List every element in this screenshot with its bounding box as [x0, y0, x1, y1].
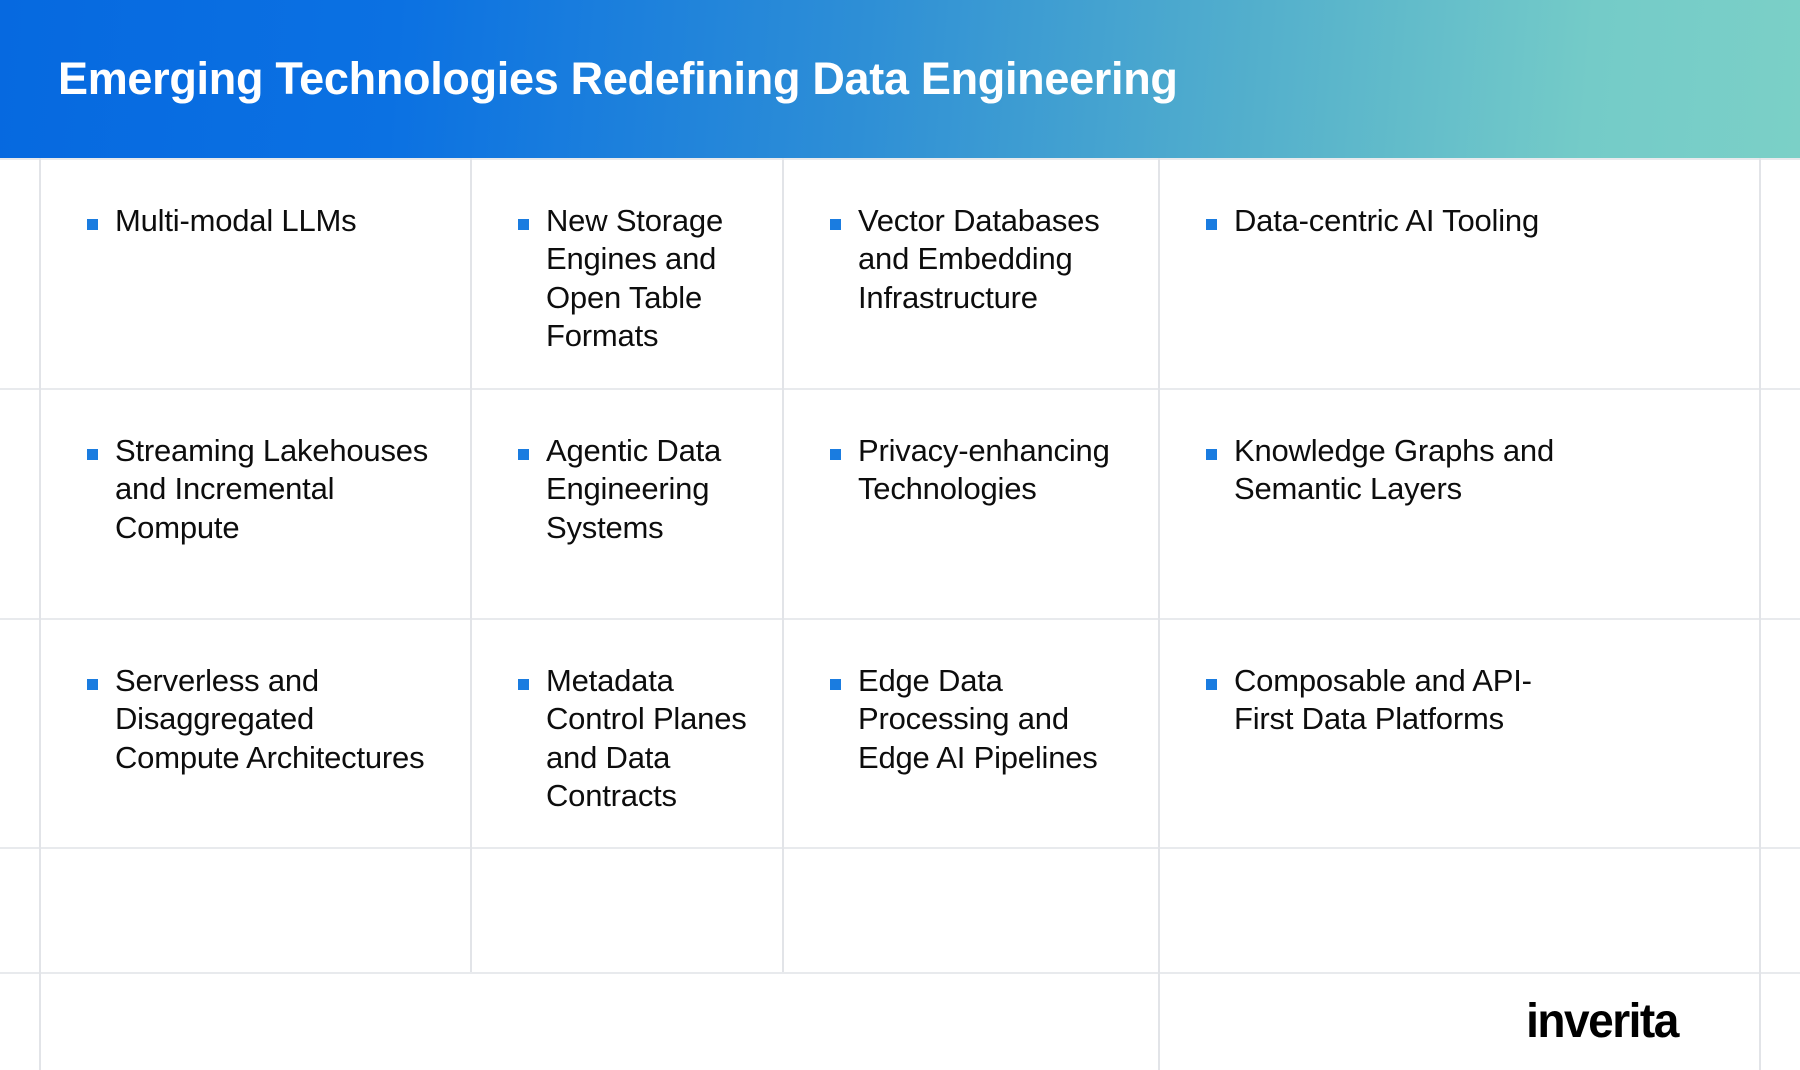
- grid-row: Serverless and Disaggregated Compute Arc…: [0, 618, 1800, 847]
- grid-gutter: [0, 618, 39, 847]
- list-item-label: Streaming Lakehouses and Incremental Com…: [115, 432, 445, 547]
- list-item: Privacy-enhancing Technologies: [830, 432, 1140, 509]
- bullet-square-icon: [830, 449, 841, 460]
- grid-row: Multi-modal LLMs New Storage Engines and…: [0, 158, 1800, 388]
- inverita-logo: inverita: [1526, 994, 1678, 1049]
- grid-cell-r1c3: Vector Databases and Embedding Infrastru…: [782, 158, 1158, 388]
- footer-cell-1: [39, 972, 470, 1070]
- bullet-square-icon: [518, 219, 529, 230]
- list-item: Composable and API-First Data Platforms: [1206, 662, 1741, 739]
- bullet-square-icon: [518, 679, 529, 690]
- grid-cell-r1c4: Data-centric AI Tooling: [1158, 158, 1759, 388]
- footer-logo-cell: inverita: [1158, 972, 1759, 1070]
- list-item: Data-centric AI Tooling: [1206, 202, 1741, 240]
- list-item: Edge Data Processing and Edge AI Pipelin…: [830, 662, 1140, 777]
- list-item-label: Privacy-enhancing Technologies: [858, 432, 1140, 509]
- list-item-label: Agentic Data Engineering Systems: [546, 432, 764, 547]
- list-item-label: New Storage Engines and Open Table Forma…: [546, 202, 764, 356]
- bullet-square-icon: [518, 449, 529, 460]
- grid-cell-r3c2: Metadata Control Planes and Data Contrac…: [470, 618, 782, 847]
- list-item-label: Metadata Control Planes and Data Contrac…: [546, 662, 764, 816]
- bullet-square-icon: [830, 219, 841, 230]
- grid-cell-r2c2: Agentic Data Engineering Systems: [470, 388, 782, 618]
- bullet-square-icon: [830, 679, 841, 690]
- grid-cell-r1c2: New Storage Engines and Open Table Forma…: [470, 158, 782, 388]
- page-title: Emerging Technologies Redefining Data En…: [0, 55, 1178, 102]
- grid-cell-r3c3: Edge Data Processing and Edge AI Pipelin…: [782, 618, 1158, 847]
- list-item: New Storage Engines and Open Table Forma…: [518, 202, 764, 356]
- bullet-square-icon: [87, 219, 98, 230]
- bullet-square-icon: [1206, 449, 1217, 460]
- grid-row: Streaming Lakehouses and Incremental Com…: [0, 388, 1800, 618]
- list-item-label: Data-centric AI Tooling: [1234, 202, 1539, 240]
- list-item: Multi-modal LLMs: [87, 202, 452, 240]
- list-item: Vector Databases and Embedding Infrastru…: [830, 202, 1140, 317]
- list-item-label: Multi-modal LLMs: [115, 202, 356, 240]
- header-banner: Emerging Technologies Redefining Data En…: [0, 0, 1800, 158]
- bullet-square-icon: [1206, 219, 1217, 230]
- list-item-label: Composable and API-First Data Platforms: [1234, 662, 1564, 739]
- list-item-label: Vector Databases and Embedding Infrastru…: [858, 202, 1140, 317]
- grid-cell-r2c4: Knowledge Graphs and Semantic Layers: [1158, 388, 1759, 618]
- list-item: Metadata Control Planes and Data Contrac…: [518, 662, 764, 816]
- bullet-square-icon: [87, 679, 98, 690]
- grid-gutter: [0, 388, 39, 618]
- grid-cell-r2c3: Privacy-enhancing Technologies: [782, 388, 1158, 618]
- footer-cell-3: [782, 972, 1158, 1070]
- infographic-root: Emerging Technologies Redefining Data En…: [0, 0, 1800, 1070]
- list-item: Knowledge Graphs and Semantic Layers: [1206, 432, 1741, 509]
- footer-row: inverita: [0, 972, 1800, 1070]
- bullet-square-icon: [1206, 679, 1217, 690]
- grid-cell-r3c1: Serverless and Disaggregated Compute Arc…: [39, 618, 470, 847]
- grid-cell-r1c1: Multi-modal LLMs: [39, 158, 470, 388]
- list-item-label: Knowledge Graphs and Semantic Layers: [1234, 432, 1564, 509]
- content-grid: Multi-modal LLMs New Storage Engines and…: [0, 158, 1800, 1070]
- footer-cell-2: [470, 972, 782, 1070]
- grid-hrule-3: [0, 847, 1800, 849]
- grid-gutter: [0, 972, 39, 1070]
- bullet-square-icon: [87, 449, 98, 460]
- grid-cell-r3c4: Composable and API-First Data Platforms: [1158, 618, 1759, 847]
- list-item: Streaming Lakehouses and Incremental Com…: [87, 432, 452, 547]
- grid-cell-r2c1: Streaming Lakehouses and Incremental Com…: [39, 388, 470, 618]
- list-item: Serverless and Disaggregated Compute Arc…: [87, 662, 452, 777]
- grid-gutter: [0, 158, 39, 388]
- list-item-label: Edge Data Processing and Edge AI Pipelin…: [858, 662, 1140, 777]
- list-item: Agentic Data Engineering Systems: [518, 432, 764, 547]
- list-item-label: Serverless and Disaggregated Compute Arc…: [115, 662, 445, 777]
